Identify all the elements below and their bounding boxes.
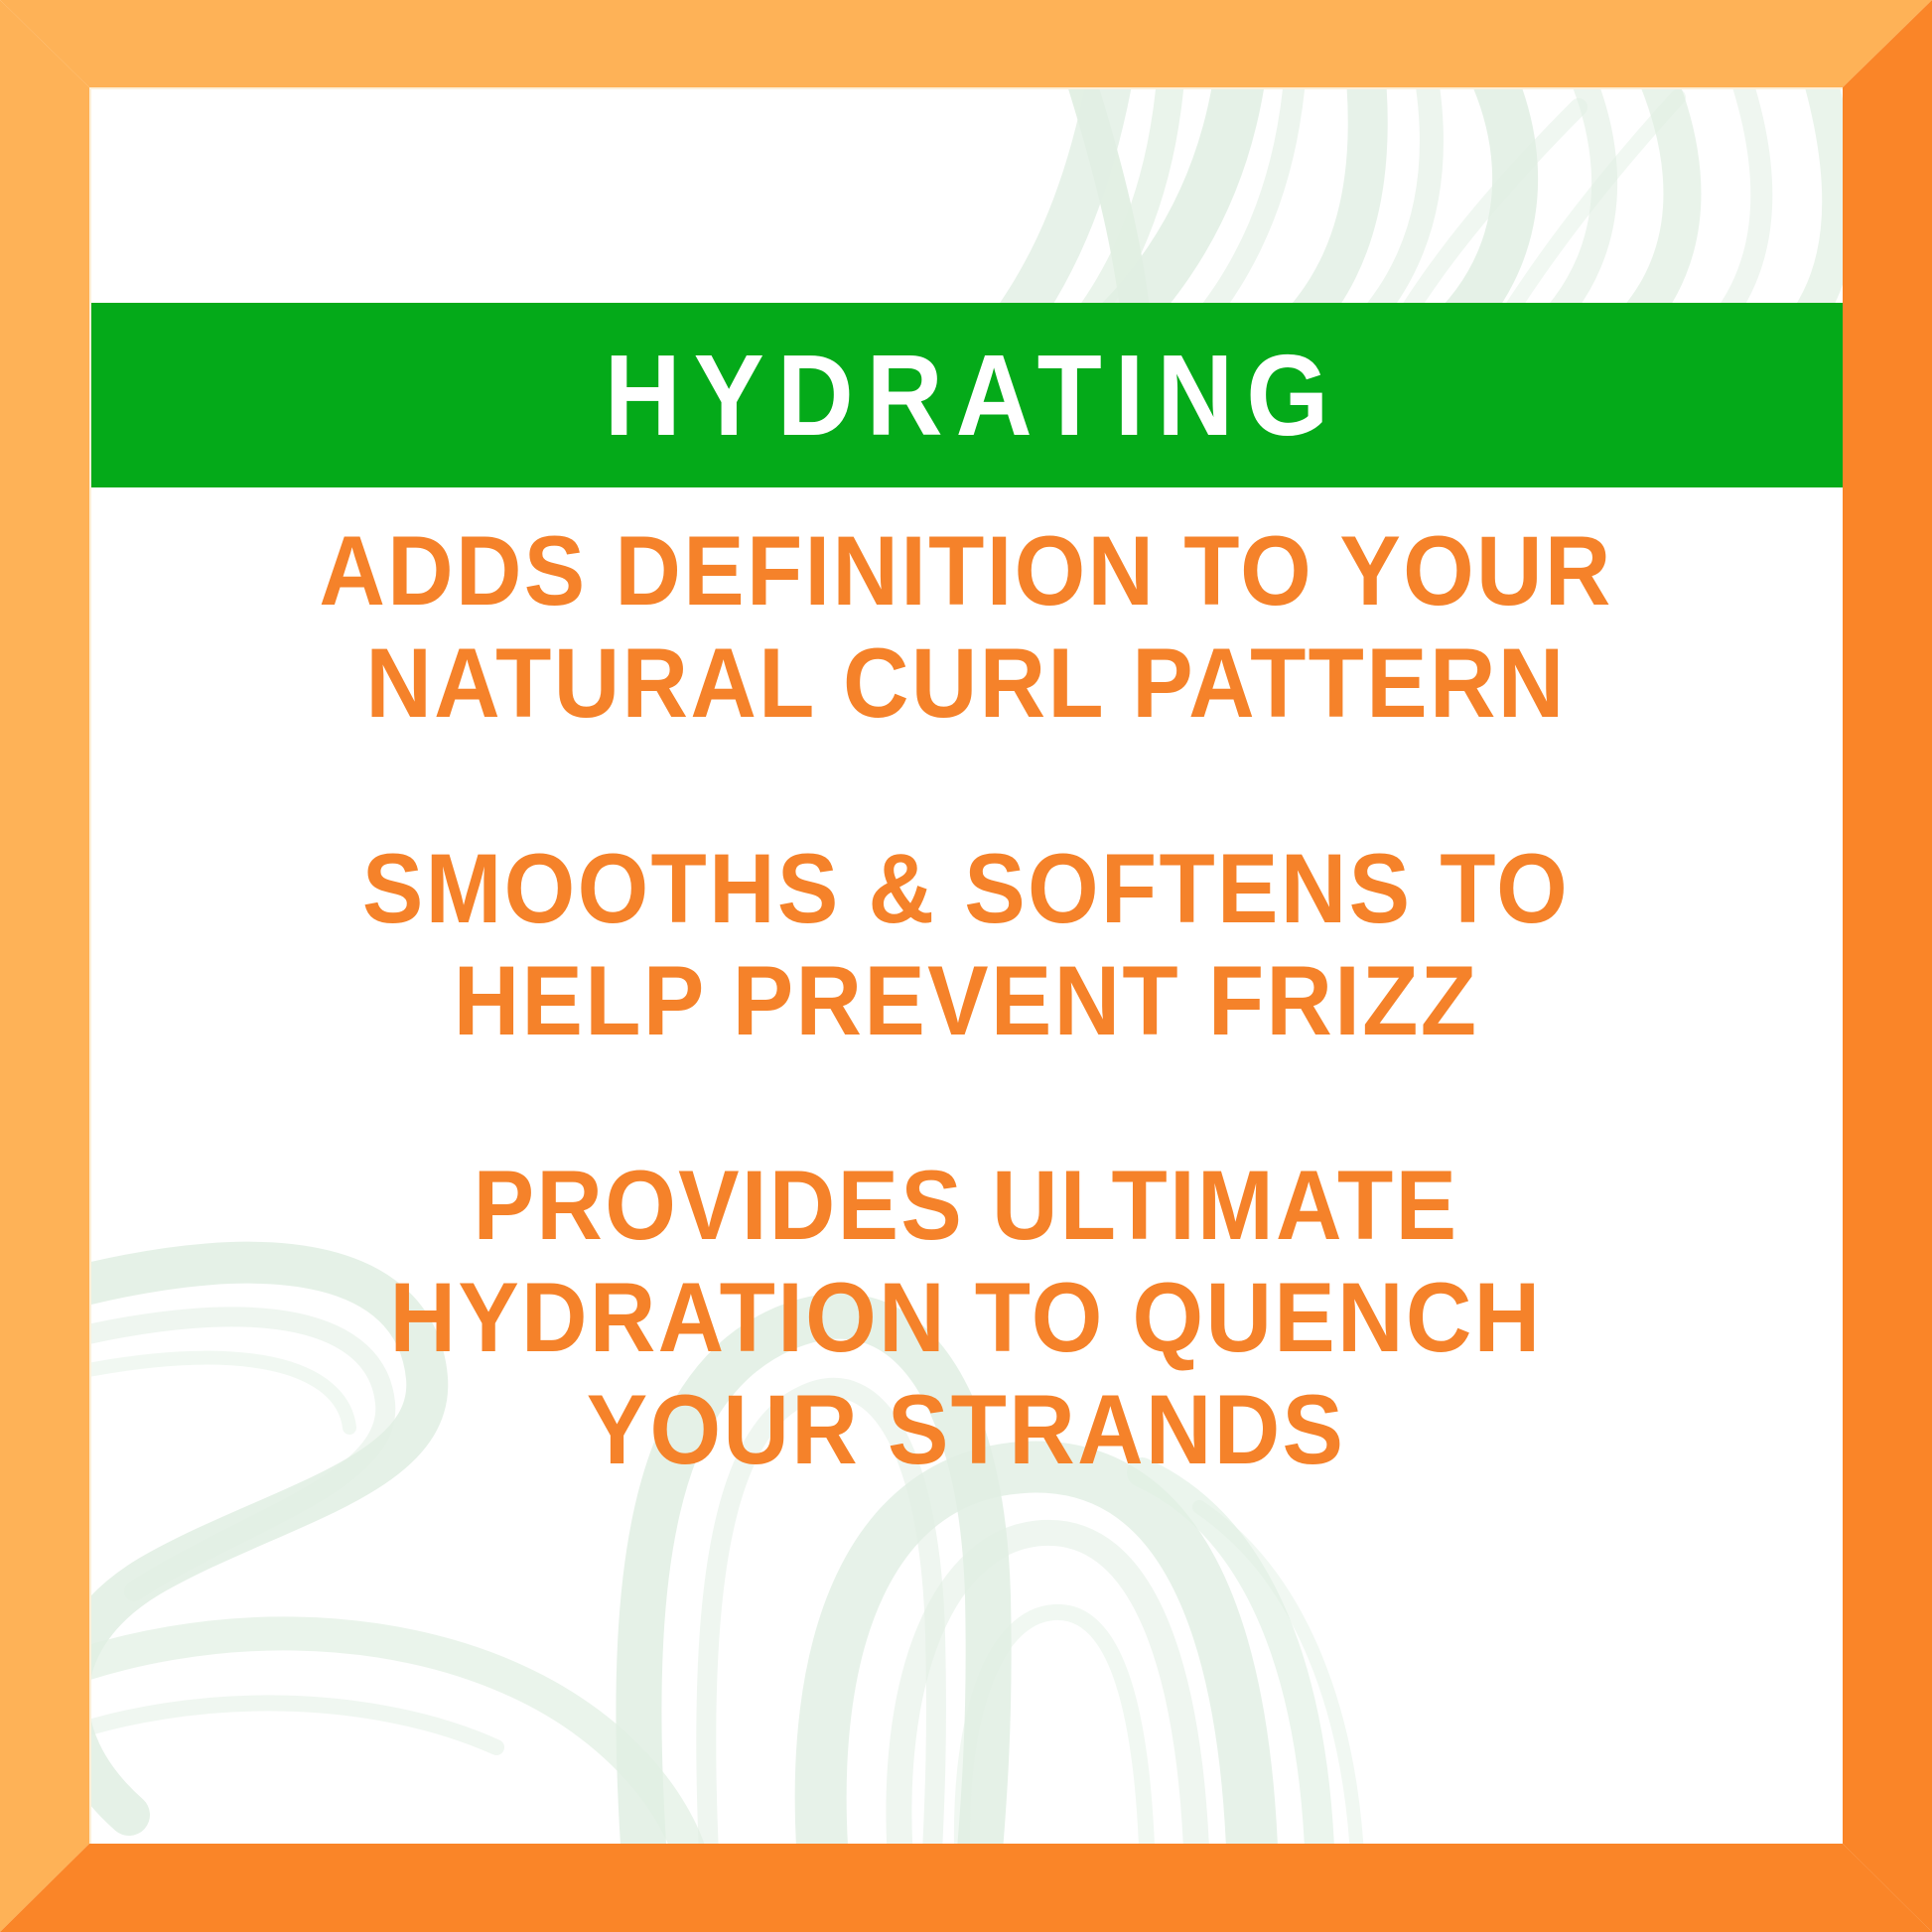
frame-border-left [0,0,89,1932]
hydrating-benefits-card: HYDRATING A [0,0,1932,1932]
frame-border-top [0,0,1932,87]
benefit-item: SMOOTHS & SOFTENS TO HELP PREVENT FRIZZ [151,833,1781,1057]
benefit-item: ADDS DEFINITION TO YOUR NATURAL CURL PAT… [151,515,1781,740]
frame-border-right [1843,0,1932,1932]
benefit-item: PROVIDES ULTIMATE HYDRATION TO QUENCH YO… [151,1150,1781,1486]
content-area: HYDRATING A [89,87,1843,1844]
hydrating-banner-label: HYDRATING [591,338,1340,453]
hydrating-banner: HYDRATING [89,303,1843,487]
benefits-list: ADDS DEFINITION TO YOUR NATURAL CURL PAT… [89,487,1843,1486]
frame-border-bottom [0,1844,1932,1932]
